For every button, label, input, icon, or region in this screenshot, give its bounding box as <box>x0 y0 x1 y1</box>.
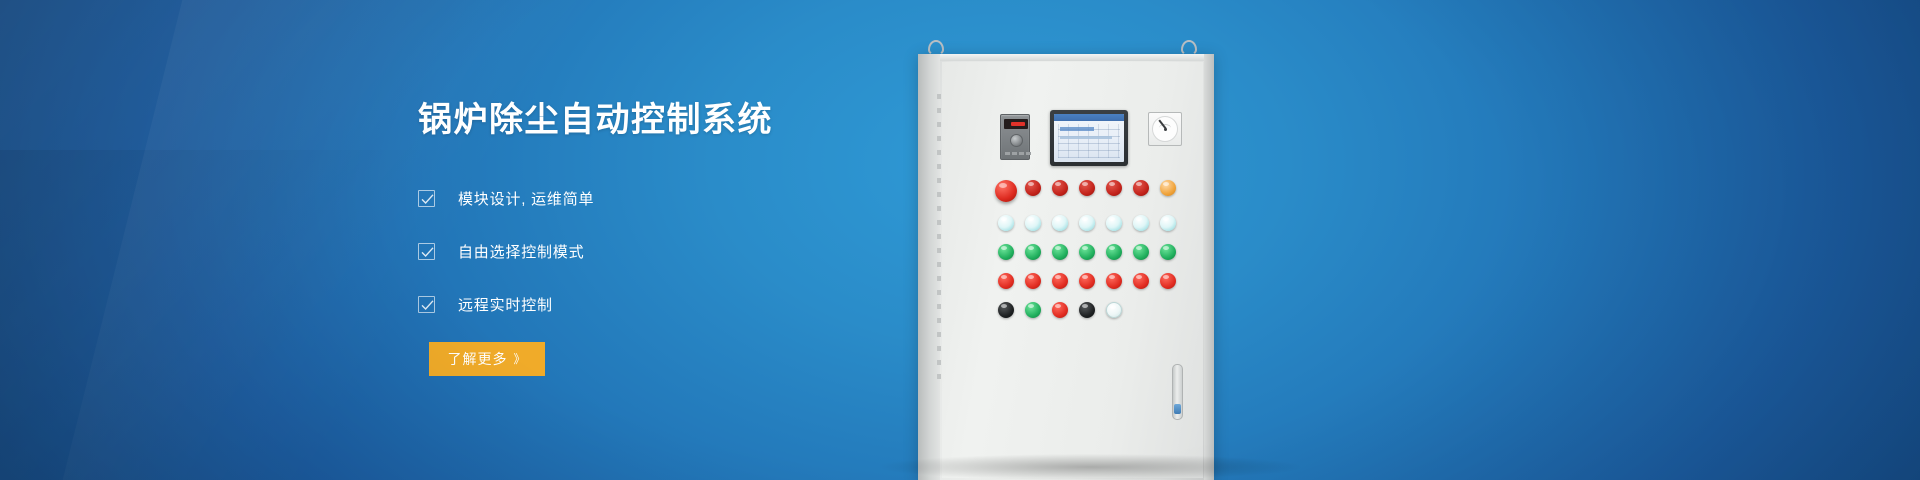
cabinet-right-edge <box>1204 54 1214 480</box>
checkbox-checked-icon <box>418 296 435 313</box>
indicator-lamp-red[interactable] <box>1106 273 1122 289</box>
indicator-lamp-white[interactable] <box>1052 215 1068 231</box>
indicator-lamp-amber[interactable] <box>1160 180 1176 196</box>
learn-more-button[interactable]: 了解更多 》 <box>429 342 545 376</box>
cabinet-top-edge <box>918 54 1214 61</box>
indicator-lamp-green[interactable] <box>1079 244 1095 260</box>
emergency-stop-button[interactable] <box>995 180 1017 202</box>
door-lock-icon <box>1174 404 1181 414</box>
feature-list: 模块设计, 运维简单 自由选择控制模式 远程实时控制 <box>418 182 938 321</box>
indicator-lamp-white[interactable] <box>1079 215 1095 231</box>
indicator-lamp-white[interactable] <box>998 215 1014 231</box>
indicator-lamp-white[interactable] <box>1106 302 1122 318</box>
gauge-face <box>1152 116 1178 142</box>
indicator-lamp-red[interactable] <box>1052 180 1068 196</box>
selector-switch-black[interactable] <box>1079 302 1095 318</box>
indicator-lamp-red[interactable] <box>1106 180 1122 196</box>
lamp-row <box>992 302 1182 318</box>
hero-banner: 锅炉除尘自动控制系统 模块设计, 运维简单 自由选择控制模式 远程实时控制 <box>0 0 1920 480</box>
hmi-touchscreen <box>1050 110 1128 166</box>
indicator-lamp-red[interactable] <box>1052 273 1068 289</box>
list-item: 自由选择控制模式 <box>418 235 938 268</box>
page-title: 锅炉除尘自动控制系统 <box>418 100 938 141</box>
lamp-row <box>992 215 1182 231</box>
lamp-row <box>992 180 1182 202</box>
cabinet-hinges <box>937 94 941 424</box>
checkbox-checked-icon <box>418 243 435 260</box>
banner-copy: 锅炉除尘自动控制系统 模块设计, 运维简单 自由选择控制模式 远程实时控制 <box>418 100 938 376</box>
digital-display <box>1004 119 1028 129</box>
indicator-lamp-red[interactable] <box>1133 180 1149 196</box>
analog-ammeter <box>1148 112 1182 146</box>
indicator-lamp-white[interactable] <box>1160 215 1176 231</box>
indicator-lamp-green[interactable] <box>1025 302 1041 318</box>
indicator-lamp-red[interactable] <box>1079 180 1095 196</box>
list-item: 远程实时控制 <box>418 288 938 321</box>
feature-label: 自由选择控制模式 <box>458 241 584 262</box>
indicator-lamp-red[interactable] <box>1133 273 1149 289</box>
learn-more-label: 了解更多 <box>447 349 507 369</box>
indicator-lamp-white[interactable] <box>1025 215 1041 231</box>
indicator-lamp-red[interactable] <box>1025 180 1041 196</box>
indicator-lamp-green[interactable] <box>998 244 1014 260</box>
indicator-lamp-red[interactable] <box>1160 273 1176 289</box>
vfd-keypad <box>1000 114 1030 160</box>
feature-label: 远程实时控制 <box>458 294 553 315</box>
indicator-lamp-green[interactable] <box>1133 244 1149 260</box>
hmi-screen <box>1054 114 1124 162</box>
indicator-lamp-red[interactable] <box>1052 302 1068 318</box>
indicator-lamp-green[interactable] <box>1106 244 1122 260</box>
checkbox-checked-icon <box>418 190 435 207</box>
lamp-row <box>992 273 1182 289</box>
control-cabinet <box>918 54 1214 480</box>
indicator-lamp-green[interactable] <box>1160 244 1176 260</box>
lamp-row <box>992 244 1182 260</box>
indicator-lamp-red[interactable] <box>1025 273 1041 289</box>
list-item: 模块设计, 运维简单 <box>418 182 938 215</box>
indicator-lamp-grid <box>992 180 1182 331</box>
rotary-knob-icon <box>1010 134 1023 147</box>
indicator-lamp-red[interactable] <box>998 273 1014 289</box>
indicator-lamp-red[interactable] <box>1079 273 1095 289</box>
keypad-buttons <box>1005 152 1031 155</box>
indicator-lamp-green[interactable] <box>1052 244 1068 260</box>
product-shadow <box>880 454 1300 480</box>
chevron-right-icon: 》 <box>513 350 526 367</box>
product-image <box>900 0 1260 480</box>
cabinet-door-handle[interactable] <box>1172 364 1183 420</box>
indicator-lamp-white[interactable] <box>1133 215 1149 231</box>
feature-label: 模块设计, 运维简单 <box>458 188 594 209</box>
selector-switch-black[interactable] <box>998 302 1014 318</box>
cabinet-door <box>942 62 1203 478</box>
indicator-lamp-white[interactable] <box>1106 215 1122 231</box>
indicator-lamp-green[interactable] <box>1025 244 1041 260</box>
